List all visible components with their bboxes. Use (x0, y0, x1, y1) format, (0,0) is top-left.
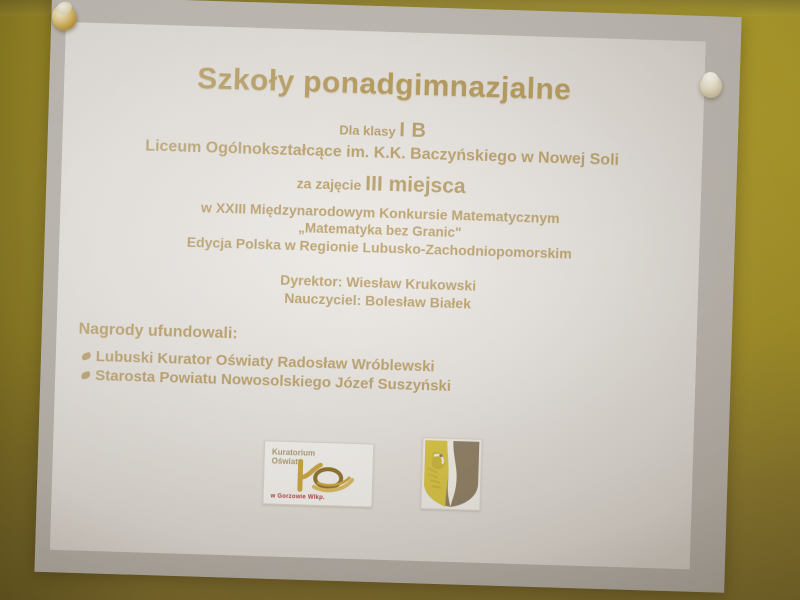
screen-pin-right-cap (703, 72, 718, 85)
class-prefix-label: Dla klasy (339, 122, 396, 139)
place-prefix-label: za zajęcie (296, 175, 361, 193)
kuratorium-oswiaty-logo: Kuratorium Oświaty w (262, 440, 374, 507)
photo-scene: Szkoły ponadgimnazjalne Dla klasy I B Li… (0, 0, 800, 600)
slide-logos: Kuratorium Oświaty w (51, 426, 693, 518)
projection-screen-surface: Szkoły ponadgimnazjalne Dla klasy I B Li… (50, 22, 706, 569)
kuratorium-ko-monogram-icon (294, 458, 357, 494)
leaf-bullet-icon (81, 352, 91, 360)
class-name-label: I B (399, 119, 427, 142)
place-label: III miejsca (365, 172, 466, 198)
leaf-bullet-icon (81, 372, 91, 380)
powiat-nowosolski-coat-of-arms (420, 437, 482, 511)
awards-section: Nagrody ufundowali: Lubuski Kurator Oświ… (55, 320, 697, 404)
kuratorium-line-3: w Gorzowie Wlkp. (271, 493, 325, 501)
presentation-slide: Szkoły ponadgimnazjalne Dla klasy I B Li… (50, 22, 706, 569)
projection-screen-assembly: Szkoły ponadgimnazjalne Dla klasy I B Li… (0, 0, 800, 600)
